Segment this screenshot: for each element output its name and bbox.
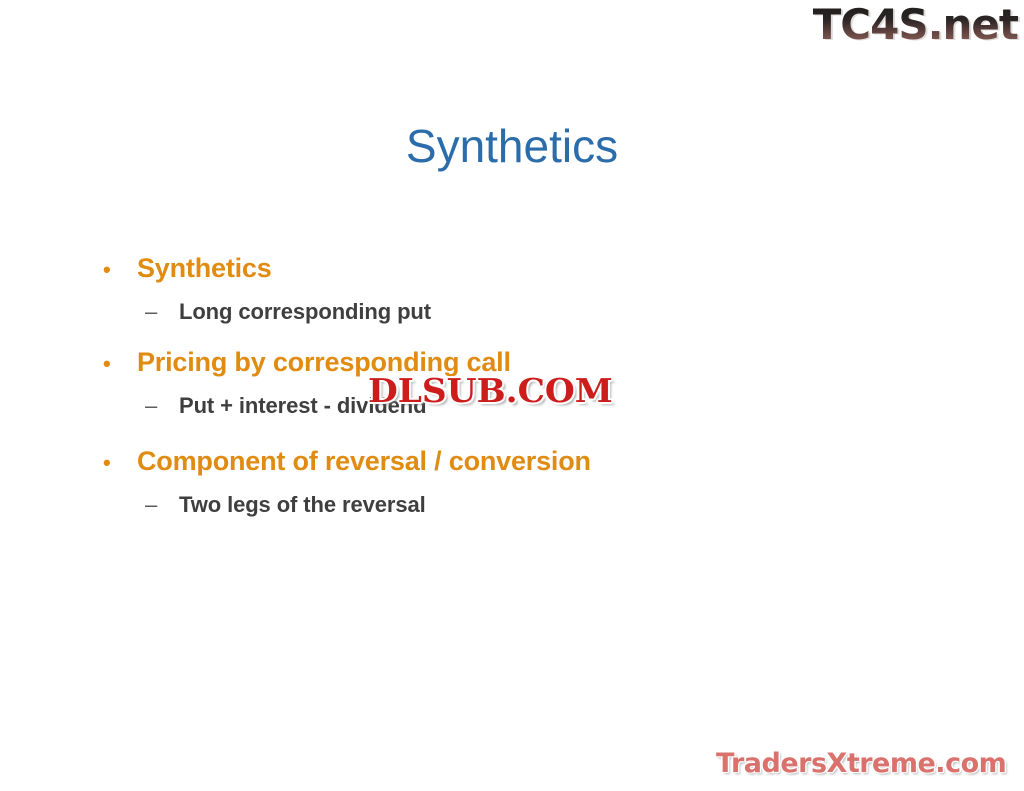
slide-canvas: TC4S.net TC4S.net Synthetics • Synthetic… xyxy=(0,0,1024,791)
bullet-group-1: • Synthetics – Long corresponding put xyxy=(96,248,926,329)
bullet-level1-synthetics: • Synthetics xyxy=(96,248,926,290)
bullet-level2-two-legs-of-the-reversal: – Two legs of the reversal xyxy=(96,488,926,522)
bullet-dot-icon: • xyxy=(96,250,137,290)
bullet-level2-label: Long corresponding put xyxy=(179,295,926,329)
bullet-level2-long-corresponding-put: – Long corresponding put xyxy=(96,295,926,329)
dlsub-com-watermark: DLSUB.COM xyxy=(368,372,613,410)
bullet-level1-label: Synthetics xyxy=(137,248,926,288)
group-spacer xyxy=(96,333,926,342)
bullet-level1-component-of-reversal-conversion: • Component of reversal / conversion xyxy=(96,441,926,483)
bullet-level1-label: Component of reversal / conversion xyxy=(137,441,926,481)
tradersxtreme-com-watermark: TradersXtreme.com xyxy=(716,748,1006,780)
bullet-dash-icon: – xyxy=(96,389,179,423)
group-spacer xyxy=(96,427,926,441)
bullet-group-3: • Component of reversal / conversion – T… xyxy=(96,441,926,522)
bullet-dash-icon: – xyxy=(96,295,179,329)
bullet-level2-label: Two legs of the reversal xyxy=(179,488,926,522)
bullet-dot-icon: • xyxy=(96,443,137,483)
slide-title: Synthetics xyxy=(0,118,1024,174)
bullet-dot-icon: • xyxy=(96,344,137,384)
bullet-dash-icon: – xyxy=(96,488,179,522)
tc4s-net-logo: TC4S.net xyxy=(813,2,1018,48)
